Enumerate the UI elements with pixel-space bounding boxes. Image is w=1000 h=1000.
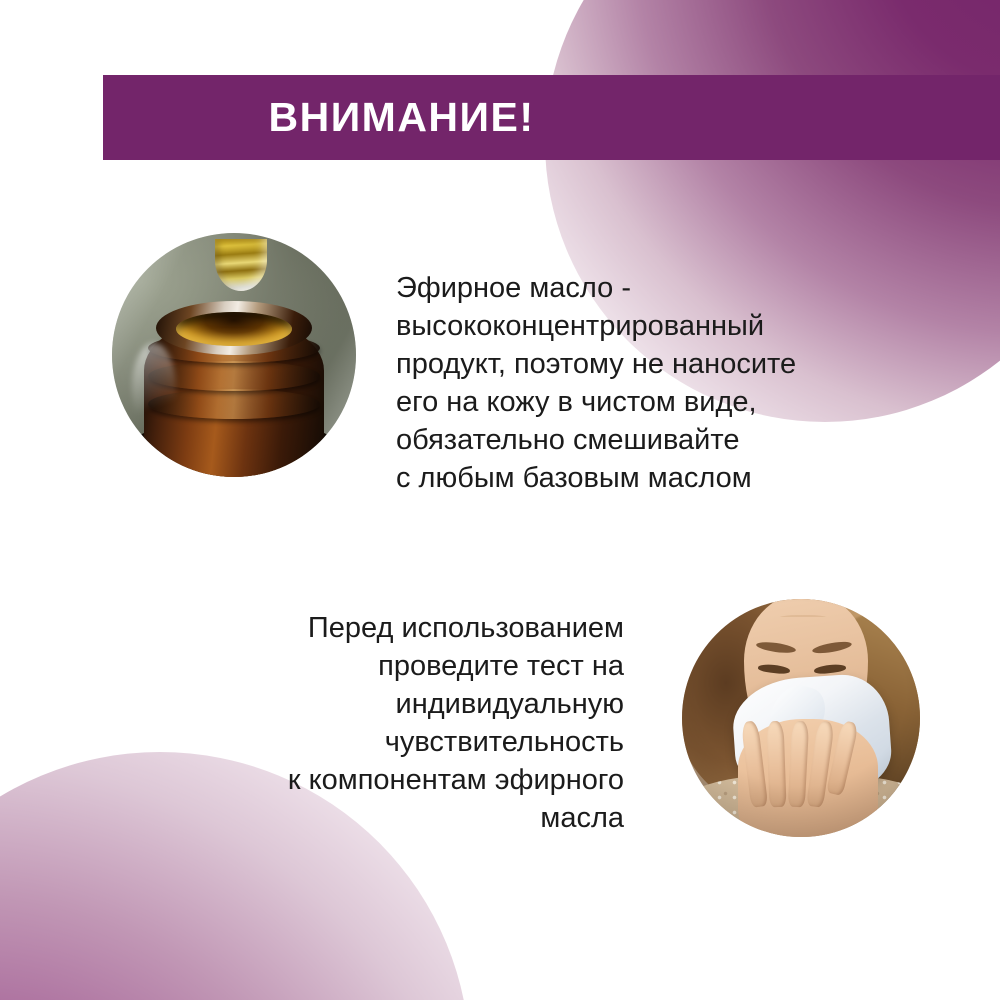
text-line: продукт, поэтому не наносите bbox=[396, 346, 866, 384]
poster-root: ВНИМАНИЕ! Эфирное масло - высококонцентр… bbox=[0, 0, 1000, 1000]
text-line: чувствительность bbox=[222, 724, 624, 762]
oil-bottle-mouth-opening bbox=[176, 312, 292, 346]
text-line: проведите тест на bbox=[222, 648, 624, 686]
text-line: индивидуальную bbox=[222, 686, 624, 724]
oil-bottle-highlight bbox=[132, 343, 176, 433]
text-line: Перед использованием bbox=[222, 610, 624, 648]
page-title: ВНИМАНИЕ! bbox=[268, 97, 834, 138]
text-line: к компонентам эфирного bbox=[222, 762, 624, 800]
essential-oil-bottle-photo bbox=[112, 233, 356, 477]
text-line: с любым базовым маслом bbox=[396, 460, 866, 498]
text-line: обязательно смешивайте bbox=[396, 422, 866, 460]
text-line: Эфирное масло - bbox=[396, 270, 866, 308]
woman-photo-vignette bbox=[682, 599, 920, 837]
sensitivity-test-text: Перед использованием проведите тест на и… bbox=[222, 610, 624, 838]
attention-banner: ВНИМАНИЕ! bbox=[103, 75, 1000, 160]
text-line: масла bbox=[222, 800, 624, 838]
text-line: его на кожу в чистом виде, bbox=[396, 384, 866, 422]
essential-oil-warning-text: Эфирное масло - высококонцентрированный … bbox=[396, 270, 866, 498]
text-line: высококонцентрированный bbox=[396, 308, 866, 346]
essential-oil-bottle-photo-content bbox=[112, 233, 356, 477]
woman-sneezing-photo bbox=[682, 599, 920, 837]
woman-sneezing-photo-content bbox=[682, 599, 920, 837]
